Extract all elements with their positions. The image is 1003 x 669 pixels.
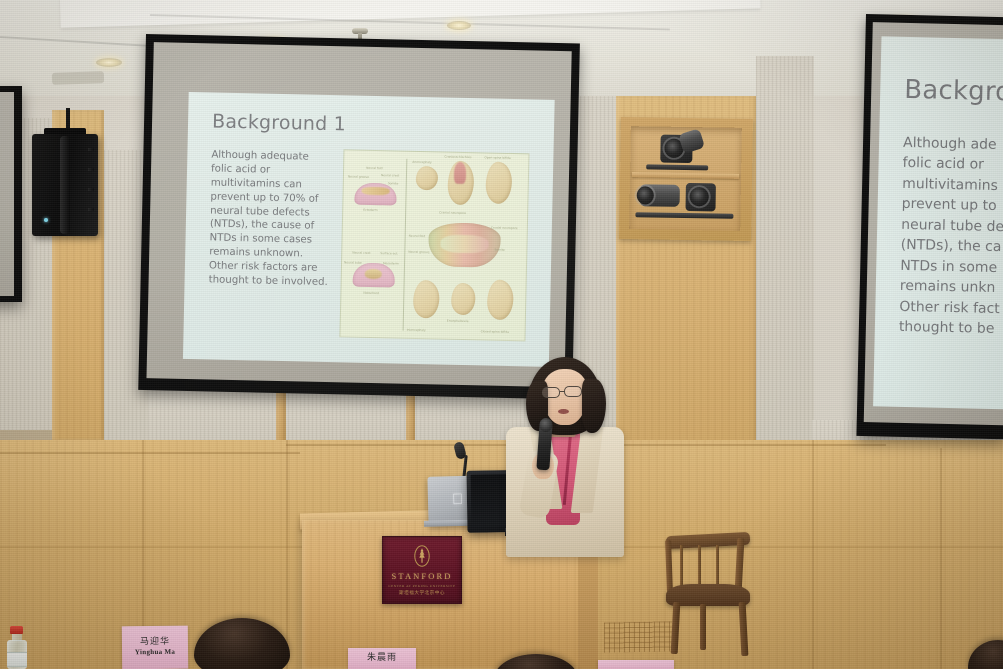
slide-body-text: Although adequate folic acid or multivit… — [208, 148, 331, 289]
figure-embryo-closed-spina-bifida — [487, 280, 514, 321]
figure-label: Notochord — [363, 291, 379, 295]
water-bottle-foreground — [6, 626, 28, 669]
figure-label: Mesoderm — [383, 261, 399, 265]
wall-wood-strip — [406, 388, 415, 446]
presenter — [500, 355, 640, 555]
figure-label: Craniorachischisis — [444, 155, 471, 160]
projected-slide-main: Background 1 Although adequate folic aci… — [183, 92, 555, 367]
figure-label: Surface ect. — [380, 251, 398, 255]
projected-slide-right: Backgrou Although ade folic acid or mult… — [873, 36, 1003, 409]
bottle-cap — [10, 626, 23, 634]
projection-screen-right: Backgrou Although ade folic acid or mult… — [856, 14, 1003, 439]
camera-mount-bar — [635, 212, 733, 219]
glasses-bridge — [560, 391, 565, 392]
speaker-slot — [88, 208, 94, 211]
bottle-label — [7, 652, 27, 667]
screen-matte — [0, 92, 14, 296]
ceiling-downlight — [447, 21, 471, 30]
slide-body-text-right: Although ade folic acid or multivitamins… — [899, 133, 1003, 340]
figure-label: Somite — [388, 181, 399, 185]
ceiling-vent — [52, 71, 104, 85]
speaker-power-led — [44, 218, 48, 222]
wainscot-joint — [812, 440, 814, 669]
wainscot-seam — [0, 452, 300, 454]
presenter-hair-side-right — [582, 379, 606, 433]
slide-figure-neural-tube-defects: Neural fold Neural groove Neural crest S… — [339, 149, 529, 341]
name-card — [598, 660, 674, 669]
chair-spindle — [716, 545, 719, 587]
figure-detail — [362, 187, 390, 196]
plaque-chinese-text: 斯坦福大学北京中心 — [399, 590, 445, 596]
speaker-ridge — [60, 136, 70, 234]
figure-label: Anencephaly — [412, 160, 432, 164]
glasses-lens-left — [542, 387, 560, 398]
camera-barrel — [678, 128, 705, 154]
niche-interior — [629, 126, 742, 231]
apple-logo-icon:  — [452, 492, 464, 507]
glasses-lens-right — [564, 386, 582, 397]
figure-label: Open spina bifida — [484, 155, 510, 160]
figure-embryo-open-spina-bifida — [485, 161, 512, 204]
podium-vent-grille — [604, 621, 672, 652]
chair-spindle — [698, 545, 701, 587]
speaker-slot — [88, 188, 94, 191]
niche-shelf — [632, 172, 739, 179]
figure-detail — [365, 269, 382, 279]
figure-label: Neural fold — [409, 234, 426, 238]
figure-label: Cranial neuropore — [439, 210, 466, 215]
plaque-subtitle: CENTER AT PEKING UNIVERSITY — [388, 584, 455, 588]
name-card-chinese: 朱晨雨 — [367, 654, 397, 664]
figure-label: Closed spina bifida — [481, 329, 509, 334]
wall-wood-strip — [276, 390, 286, 446]
camera-mount-bar — [646, 164, 708, 170]
figure-label: Neural groove — [348, 174, 369, 178]
speaker-slot — [88, 168, 94, 171]
slide-title: Background 1 — [212, 110, 346, 135]
name-card: 朱晨雨 — [348, 648, 416, 669]
stanford-tree-icon — [414, 544, 431, 567]
microphone-grille — [539, 418, 553, 433]
figure-label: Ectoderm — [363, 208, 378, 212]
figure-label: Neural fold — [366, 166, 383, 170]
figure-neural-groove — [440, 234, 488, 253]
presenter-mouth — [558, 409, 569, 414]
ceiling-downlight — [96, 58, 122, 67]
slide-title-right: Backgrou — [904, 75, 1003, 108]
figure-embryo-encephalocele — [451, 283, 476, 316]
stanford-plaque: STANFORD CENTER AT PEKING UNIVERSITY 斯坦福… — [382, 536, 462, 604]
figure-label: Encephalocele — [447, 319, 469, 323]
conference-room-photo: Background 1 Although adequate folic aci… — [0, 0, 1003, 669]
name-card-english: Yinghua Ma — [135, 649, 175, 657]
figure-label: Neural crest — [352, 251, 370, 255]
figure-label: Caudal neuropore — [491, 226, 518, 231]
chair-leg-rear — [700, 604, 706, 650]
figure-label: Somite — [494, 248, 505, 252]
wainscot-joint — [286, 440, 288, 669]
figure-label: Neural tube — [344, 260, 362, 264]
figure-label: Iniencephaly — [407, 328, 426, 332]
name-card: 马迎华 Yinghua Ma — [122, 626, 188, 669]
figure-embryo-anencephaly — [416, 166, 439, 190]
av-equipment-niche — [619, 117, 753, 241]
figure-divider — [403, 159, 408, 330]
chair-spindle — [680, 545, 683, 587]
acoustic-panel — [756, 56, 814, 448]
wall-loudspeaker — [32, 134, 98, 236]
projection-screen-main: Background 1 Although adequate folic aci… — [138, 34, 580, 399]
name-card-chinese: 马迎华 — [140, 638, 170, 648]
plaque-name: STANFORD — [392, 571, 453, 581]
figure-defect-marking — [454, 162, 466, 184]
wainscot-joint — [940, 448, 942, 669]
projection-screen-left-partial — [0, 86, 22, 302]
speaker-slot — [88, 148, 94, 151]
figure-label: Neural crest — [381, 173, 399, 177]
figure-embryo-iniencephaly — [413, 280, 440, 319]
figure-label: Neural groove — [408, 250, 429, 254]
